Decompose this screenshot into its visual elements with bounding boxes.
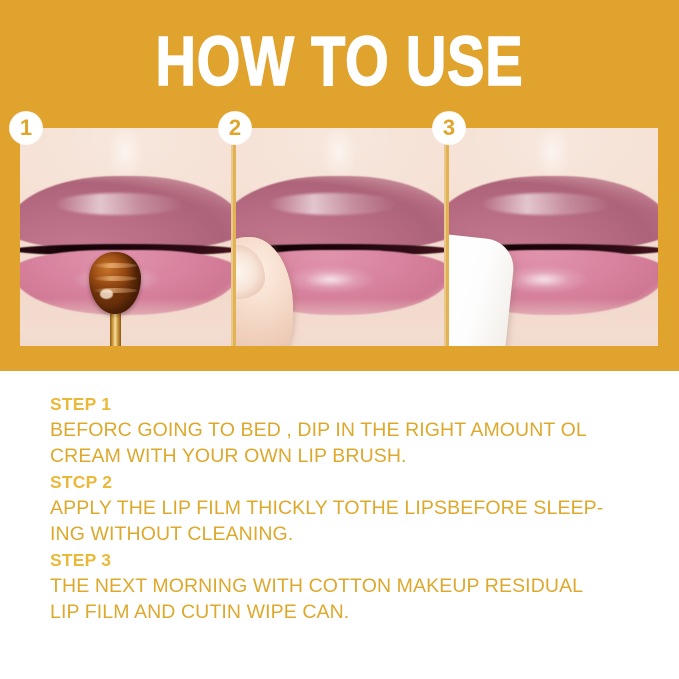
instructions-list: STEP 1 BEFORC GOING TO BED , DIP IN THE … bbox=[50, 392, 650, 626]
step-badge-2: 2 bbox=[219, 112, 251, 144]
step-badge-1: 1 bbox=[10, 112, 42, 144]
lower-lip-gloss bbox=[284, 265, 376, 293]
photo-strip bbox=[20, 128, 658, 346]
panel-divider bbox=[233, 128, 236, 346]
fingernail bbox=[234, 245, 265, 299]
step-badge-3: 3 bbox=[433, 112, 465, 144]
instruction-step-2: STCP 2 APPLY THE LIP FILM THICKLY TOTHE … bbox=[50, 470, 650, 547]
step-3-body: THE NEXT MORNING WITH COTTON MAKEUP RESI… bbox=[50, 573, 650, 625]
upper-lip-gloss bbox=[54, 193, 185, 215]
step-2-body: APPLY THE LIP FILM THICKLY TOTHE LIPSBEF… bbox=[50, 495, 650, 547]
applicator-handle bbox=[110, 311, 121, 346]
step-3-heading: STEP 3 bbox=[50, 548, 650, 573]
photo-panel-step-1 bbox=[20, 128, 231, 346]
photo-panel-step-3 bbox=[447, 128, 658, 346]
step-1-heading: STEP 1 bbox=[50, 392, 650, 417]
panel-divider bbox=[446, 128, 449, 346]
upper-lip-gloss bbox=[481, 193, 612, 215]
hero-banner: HOW TO USE bbox=[0, 0, 679, 371]
photo-panel-step-2 bbox=[234, 128, 444, 346]
applicator-highlight bbox=[100, 289, 112, 299]
instruction-step-3: STEP 3 THE NEXT MORNING WITH COTTON MAKE… bbox=[50, 548, 650, 625]
upper-lip-gloss bbox=[268, 193, 398, 215]
step-2-heading: STCP 2 bbox=[50, 470, 650, 495]
instruction-step-1: STEP 1 BEFORC GOING TO BED , DIP IN THE … bbox=[50, 392, 650, 469]
step-1-body: BEFORC GOING TO BED , DIP IN THE RIGHT A… bbox=[50, 417, 650, 469]
applicator-ridge bbox=[93, 263, 137, 268]
cotton-pad-icon bbox=[447, 233, 517, 346]
applicator-ridge bbox=[93, 276, 137, 281]
page-title: HOW TO USE bbox=[68, 26, 611, 96]
